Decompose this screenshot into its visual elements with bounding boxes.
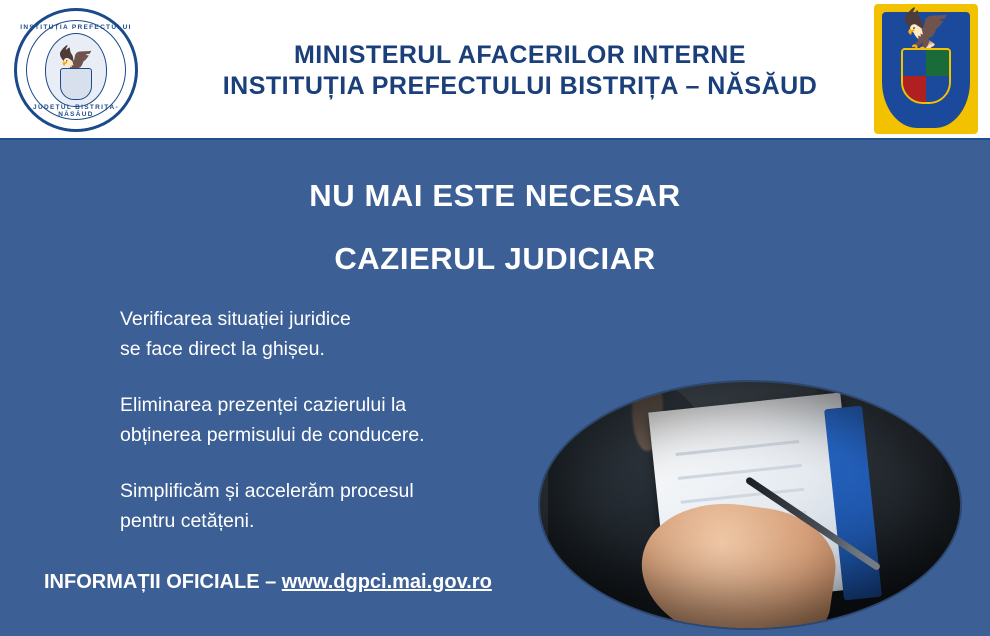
bullet-line: pentru cetățeni. <box>120 506 550 536</box>
poster-body: NU MAI ESTE NECESAR CAZIERUL JUDICIAR Ve… <box>0 140 990 636</box>
coat-quarter-3 <box>903 76 926 102</box>
seal-text-top: INSTITUȚIA PREFECTULUI <box>17 24 135 31</box>
poster-headline-2: CAZIERUL JUDICIAR <box>0 241 990 277</box>
bullet-line: se face direct la ghișeu. <box>120 334 550 364</box>
photo-vignette <box>540 382 960 628</box>
bullet-line: Eliminarea prezenței cazierului la <box>120 390 550 420</box>
coat-quarter-2 <box>926 50 949 76</box>
seal-shield-icon <box>60 68 92 100</box>
poster-root: INSTITUȚIA PREFECTULUI 🦅 JUDEȚUL BISTRIȚ… <box>0 0 990 636</box>
document-signing-photo <box>540 382 960 628</box>
official-info-label: INFORMAȚII OFICIALE – <box>44 571 282 593</box>
document-header: INSTITUȚIA PREFECTULUI 🦅 JUDEȚUL BISTRIȚ… <box>0 0 990 140</box>
bullet-line: Verificarea situației juridice <box>120 304 550 334</box>
poster-headline-1: NU MAI ESTE NECESAR <box>0 178 990 214</box>
coat-shield-icon <box>901 48 951 104</box>
ministry-title: MINISTERUL AFACERILOR INTERNE <box>170 40 870 71</box>
institution-title: INSTITUȚIA PREFECTULUI BISTRIȚA – NĂSĂUD <box>170 71 870 102</box>
coat-quarter-4 <box>926 76 949 102</box>
coat-eagle-icon: 🦅 <box>901 10 951 50</box>
poster-bullet-list: Verificarea situației juridice se face d… <box>120 304 550 562</box>
prefecture-seal-icon: INSTITUȚIA PREFECTULUI 🦅 JUDEȚUL BISTRIȚ… <box>14 8 138 132</box>
header-title-block: MINISTERUL AFACERILOR INTERNE INSTITUȚIA… <box>170 40 870 102</box>
bullet-line: obținerea permisului de conducere. <box>120 420 550 450</box>
coat-quarter-1 <box>903 50 926 76</box>
official-info-line: INFORMAȚII OFICIALE – www.dgpci.mai.gov.… <box>44 571 492 594</box>
seal-text-bottom: JUDEȚUL BISTRIȚA-NĂSĂUD <box>17 104 135 118</box>
bullet-line: Simplificăm și accelerăm procesul <box>120 476 550 506</box>
seal-center-emblem: 🦅 <box>45 33 107 107</box>
list-item: Verificarea situației juridice se face d… <box>120 304 550 364</box>
official-info-link[interactable]: www.dgpci.mai.gov.ro <box>282 571 492 593</box>
list-item: Eliminarea prezenței cazierului la obțin… <box>120 390 550 450</box>
romania-coat-of-arms-icon: 🦅 <box>874 4 978 134</box>
list-item: Simplificăm și accelerăm procesul pentru… <box>120 476 550 536</box>
